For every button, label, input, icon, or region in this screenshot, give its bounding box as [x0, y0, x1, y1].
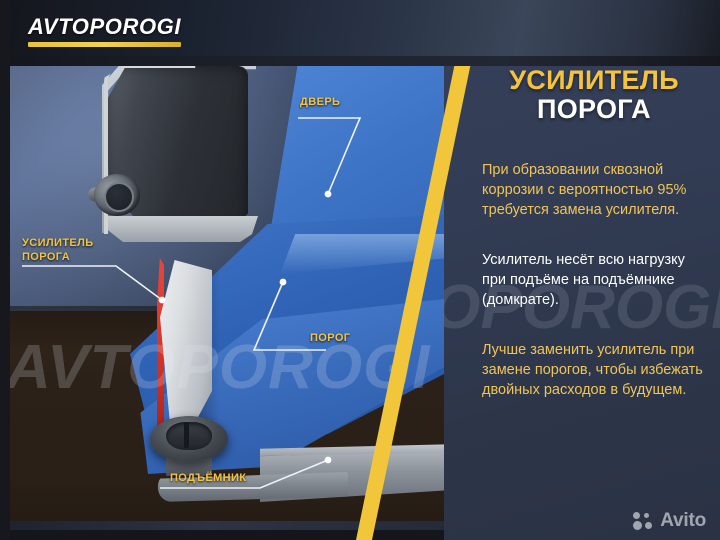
body-paragraph-3: Лучше заменить усилитель при замене поро… — [482, 340, 706, 400]
page-title-line-1: УСИЛИТЕЛЬ — [482, 66, 706, 95]
callout-sill: ПОРОГ — [310, 332, 350, 346]
lift-pad-slot — [184, 422, 189, 448]
avito-dots-icon — [633, 512, 655, 530]
page-title: УСИЛИТЕЛЬ ПОРОГА — [482, 66, 706, 124]
promo-image: AVTOPOROGI ДВЕРЬ УСИЛИТЕЛЬ ПОРОГА ПОРОГ … — [0, 0, 720, 540]
callout-lift-label: ПОДЪЁМНИК — [170, 472, 246, 486]
callout-lift: ПОДЪЁМНИК — [170, 472, 246, 486]
door-bottom-lip — [108, 216, 258, 242]
brand-logo-text: AVTOPOROGI — [28, 16, 181, 38]
callout-reinforcer: УСИЛИТЕЛЬ ПОРОГА — [22, 237, 94, 265]
brand-logo-underline — [28, 42, 181, 47]
callout-door-label: ДВЕРЬ — [300, 96, 340, 110]
callout-reinforcer-label-2: ПОРОГА — [22, 251, 94, 265]
hinge-bushing — [104, 182, 134, 212]
avito-wordmark: Avito — [660, 511, 706, 530]
brand-logo: AVTOPOROGI — [28, 16, 181, 47]
callout-door: ДВЕРЬ — [300, 96, 340, 110]
diagram-bottom-strip — [10, 521, 456, 530]
left-frame-border — [0, 0, 10, 540]
body-paragraph-2: Усилитель несёт всю нагрузку при подъёме… — [482, 250, 706, 310]
page-title-line-2: ПОРОГА — [482, 95, 706, 124]
cutaway-diagram: AVTOPOROGI — [10, 64, 456, 530]
callout-reinforcer-label-1: УСИЛИТЕЛЬ — [22, 237, 94, 251]
callout-sill-label: ПОРОГ — [310, 332, 350, 346]
body-paragraph-1: При образовании сквозной коррозии с веро… — [482, 160, 706, 220]
lift-pad-inner — [166, 422, 212, 450]
text-panel: AVTOPOROGI УСИЛИТЕЛЬ ПОРОГА При образова… — [444, 0, 720, 540]
avito-watermark: Avito — [633, 511, 706, 530]
